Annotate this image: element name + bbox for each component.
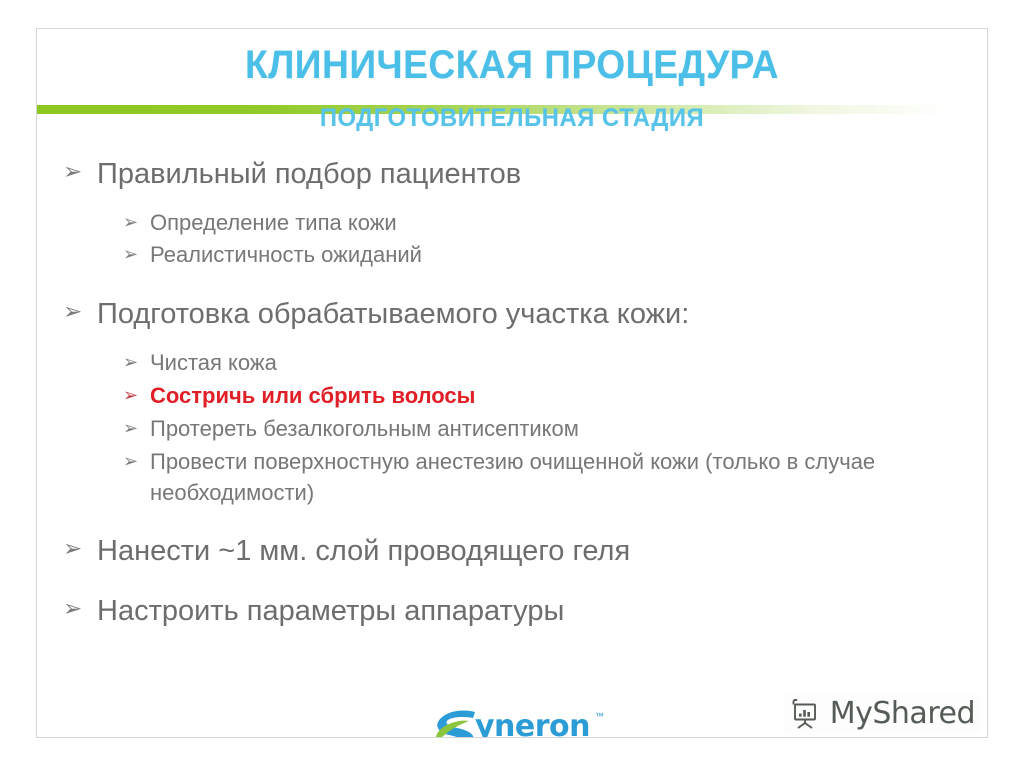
list-item-label: Протереть безалкогольным антисептиком (150, 414, 987, 445)
list-item: ➢Чистая кожа (37, 348, 987, 379)
list-spacer (37, 338, 987, 348)
arrow-bullet-icon: ➢ (123, 240, 150, 264)
arrow-bullet-icon: ➢ (123, 208, 150, 232)
list-item: ➢Состричь или сбрить волосы (37, 381, 987, 412)
list-spacer (37, 510, 987, 532)
syneron-wordmark: yneron (475, 709, 590, 738)
list-spacer (37, 576, 987, 592)
list-item-label: Чистая кожа (150, 348, 987, 379)
myshared-label: MyShared (830, 696, 975, 731)
bullet-list: ➢Правильный подбор пациентов➢Определение… (37, 155, 987, 631)
slide-canvas: КЛИНИЧЕСКАЯ ПРОЦЕДУРА ПОДГОТОВИТЕЛЬНАЯ С… (36, 28, 988, 738)
list-item-label: Настроить параметры аппаратуры (97, 592, 987, 631)
list-item-label: Правильный подбор пациентов (97, 155, 987, 194)
list-item-label: Реалистичность ожиданий (150, 240, 987, 271)
list-item-label: Подготовка обрабатываемого участка кожи: (97, 295, 987, 334)
list-item-label: Определение типа кожи (150, 208, 987, 239)
list-spacer (37, 198, 987, 208)
list-item: ➢Настроить параметры аппаратуры (37, 592, 987, 631)
slide-title: КЛИНИЧЕСКАЯ ПРОЦЕДУРА (70, 43, 954, 87)
list-item: ➢Нанести ~1 мм. слой проводящего геля (37, 532, 987, 571)
list-item-label: Провести поверхностную анестезию очищенн… (150, 447, 987, 509)
syneron-logo: yneron ™ Powered by elōs ™ (429, 707, 629, 738)
list-item-label: Состричь или сбрить волосы (150, 381, 987, 412)
list-item: ➢Подготовка обрабатываемого участка кожи… (37, 295, 987, 334)
list-spacer (37, 273, 987, 295)
list-item: ➢Реалистичность ожиданий (37, 240, 987, 271)
list-item: ➢Определение типа кожи (37, 208, 987, 239)
presentation-chart-icon (788, 697, 822, 731)
list-item: ➢Провести поверхностную анестезию очищен… (37, 447, 987, 509)
list-item-label: Нанести ~1 мм. слой проводящего геля (97, 532, 987, 571)
arrow-bullet-icon: ➢ (63, 155, 97, 184)
syneron-s-mark (429, 707, 481, 738)
arrow-bullet-icon: ➢ (123, 381, 150, 405)
syneron-trademark: ™ (595, 711, 604, 721)
arrow-bullet-icon: ➢ (63, 295, 97, 324)
arrow-bullet-icon: ➢ (123, 414, 150, 438)
list-item: ➢Протереть безалкогольным антисептиком (37, 414, 987, 445)
list-item: ➢Правильный подбор пациентов (37, 155, 987, 194)
slide-subtitle: ПОДГОТОВИТЕЛЬНАЯ СТАДИЯ (61, 105, 964, 133)
arrow-bullet-icon: ➢ (63, 532, 97, 561)
arrow-bullet-icon: ➢ (123, 447, 150, 471)
arrow-bullet-icon: ➢ (123, 348, 150, 372)
myshared-watermark: MyShared (784, 694, 981, 733)
arrow-bullet-icon: ➢ (63, 592, 97, 621)
